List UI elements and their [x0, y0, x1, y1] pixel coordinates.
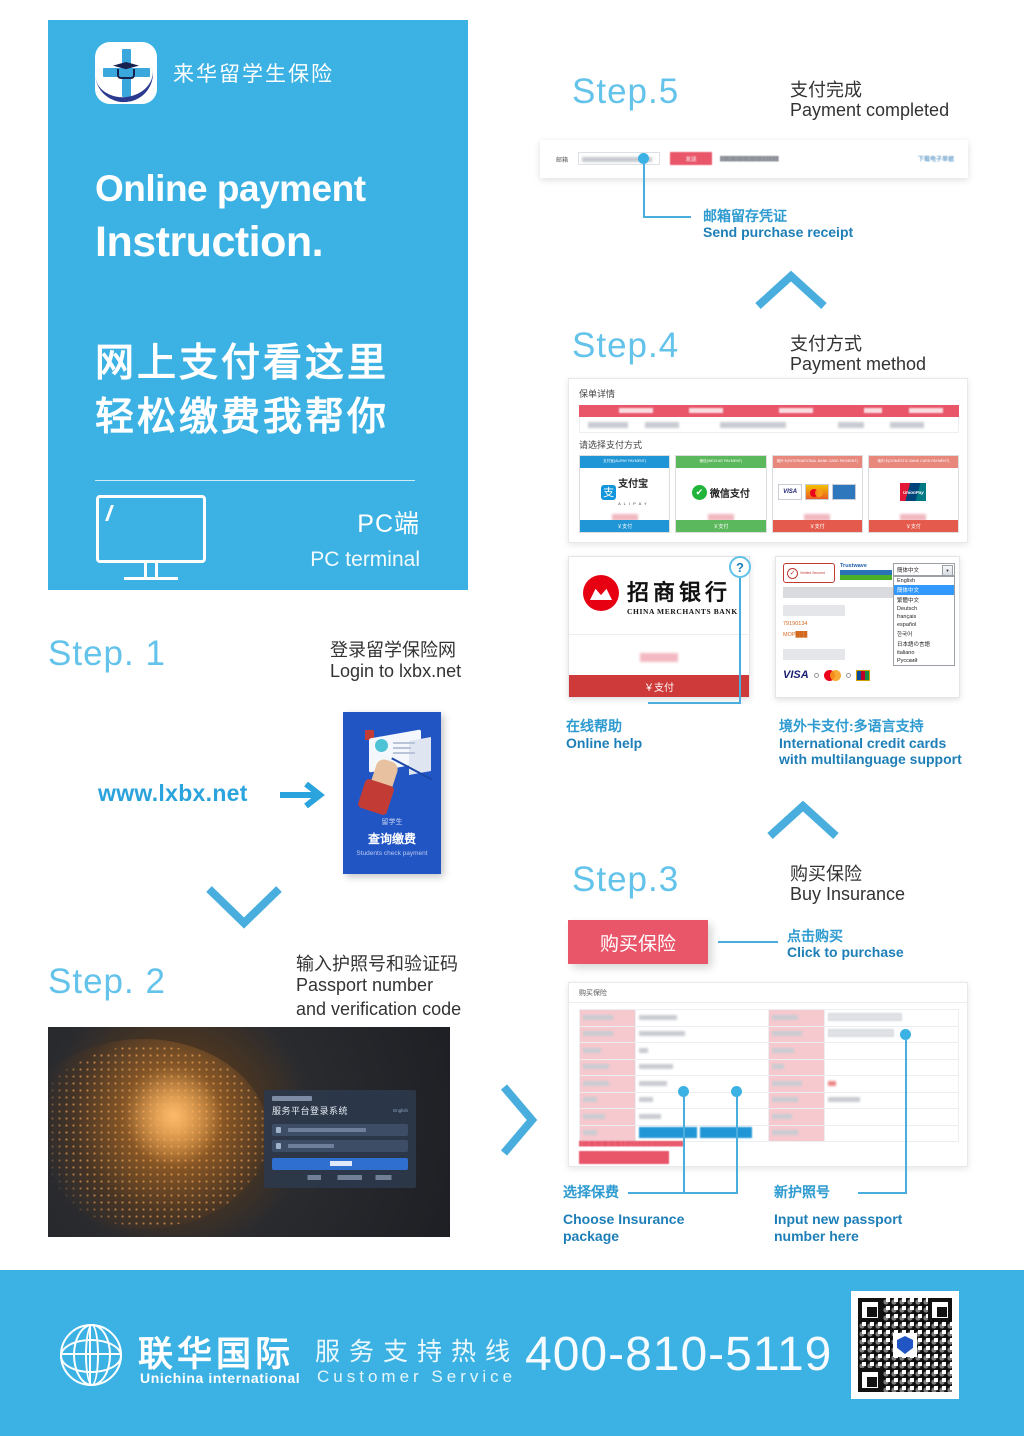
app-card-line3: Students check payment [343, 850, 441, 857]
chevron-up-icon-step4 [766, 800, 840, 840]
language-option[interactable]: 한국어 [894, 629, 954, 639]
policy-detail-title: 保单详情 [579, 387, 615, 400]
footer-service-cn: 服务支持热线 [315, 1332, 519, 1368]
table-row [580, 1059, 959, 1076]
insurance-package-select-2[interactable] [700, 1127, 752, 1138]
passport-callout-en-1: Input new passport [774, 1211, 902, 1227]
footer-phone: 400-810-5119 [525, 1327, 832, 1382]
form-submit-button[interactable] [579, 1151, 669, 1164]
choose-payment-title: 请选择支付方式 [579, 438, 642, 451]
step-1-caption-cn: 登录留学保险网 [330, 636, 456, 662]
pc-terminal-en: PC terminal [310, 548, 420, 572]
package-callout-cn: 选择保费 [563, 1182, 619, 1202]
callout-line-horizontal [643, 216, 691, 218]
card-field-3[interactable] [783, 649, 845, 660]
bank-header: 招商银行 CHINA MERCHANTS BANK [569, 557, 749, 635]
radio-mastercard[interactable] [814, 673, 819, 678]
step-2-caption-en-1: Passport number [296, 975, 433, 996]
receipt-email-bar: 邮箱 发送 ██████████████████ 下载电子单据 [540, 140, 968, 178]
callout-line-passport [905, 1040, 907, 1194]
alipay-pay-button[interactable]: ￥支付 [580, 520, 669, 532]
table-row [580, 1109, 959, 1126]
card-number-field[interactable] [783, 587, 903, 598]
policy-table-row [579, 417, 959, 433]
hero-title-line2: Instruction. [95, 218, 323, 267]
insurance-package-select-1[interactable] [639, 1127, 697, 1138]
website-url[interactable]: www.lxbx.net [98, 780, 248, 807]
footer-brand-en: Unichina international [140, 1370, 300, 1386]
buy-insurance-button[interactable]: 购买保险 [568, 920, 708, 964]
table-row [580, 1076, 959, 1093]
help-callout-line [739, 578, 741, 704]
globe-icon [60, 1324, 122, 1386]
app-card-line1: 留学生 [343, 817, 441, 827]
step-5-label: Step.5 [572, 72, 679, 112]
bank-name-cn: 招商银行 [627, 575, 731, 607]
footer-service-en: Customer Service [317, 1367, 516, 1387]
accepted-card-brands: VISA [783, 669, 870, 681]
card-field-2[interactable] [783, 605, 845, 616]
medical-cross-graduation-cap-logo-icon [95, 42, 157, 104]
order-amount-text: MOP███ [783, 632, 807, 638]
language-option[interactable]: Русский [894, 657, 954, 665]
verified-secured-badge-icon: ✓Verified Secured [783, 563, 835, 583]
visa-icon: VISA [783, 669, 809, 681]
payment-method-panel: 保单详情 请选择支付方式 支付宝(ALIPAY PAYMENT) 支 支付宝 A… [568, 378, 968, 543]
login-page-screenshot: 服务平台登录系统 English [48, 1027, 450, 1237]
language-option[interactable]: 日本語の言語 [894, 639, 954, 649]
step-2-label: Step. 2 [48, 962, 166, 1002]
bank-pay-button[interactable]: ￥支付 [569, 675, 749, 697]
payment-option-domestic-card[interactable]: 境内卡(DOMESTIC BANK CARD PAYMENT) UnionPay… [868, 455, 959, 533]
payment-option-international-card[interactable]: 境外卡(INTERNATIONAL BANK CARD PAYMENT) VIS… [772, 455, 863, 533]
step-4-caption-en: Payment method [790, 354, 926, 375]
wechat-header: 微信(WECHAT PAYMENT) [676, 456, 765, 468]
language-option[interactable]: español [894, 621, 954, 629]
callout-dot-passport [900, 1029, 911, 1040]
chevron-up-icon-step5 [754, 270, 828, 310]
step-2-caption-cn: 输入护照号和验证码 [296, 950, 458, 976]
alipay-name: 支付宝 [618, 479, 648, 490]
mastercard-icon [805, 484, 829, 500]
insurance-form-panel: 购买保险 [568, 982, 968, 1167]
intl-callout-en-2: with multilanguage support [779, 751, 962, 767]
language-option[interactable]: 繁體中文 [894, 595, 954, 605]
amex-icon [832, 484, 856, 500]
step-4-label: Step.4 [572, 326, 679, 366]
language-options-list[interactable]: English 簡体中文 繁體中文 Deutsch français españ… [893, 576, 955, 666]
desktop-monitor-icon [96, 495, 206, 585]
step-3-caption-en: Buy Insurance [790, 884, 905, 905]
pc-terminal-cn: PC端 [357, 504, 420, 540]
wechat-name: 微信支付 [710, 485, 750, 500]
help-callout-en: Online help [566, 735, 642, 751]
mastercard-icon [824, 670, 841, 681]
table-row [580, 1092, 959, 1109]
login-form: 服务平台登录系统 English [264, 1090, 416, 1188]
chevron-down-icon-step1 [205, 883, 283, 929]
table-row [580, 1125, 959, 1142]
purchase-callout-line [718, 941, 778, 943]
trustwave-badge-icon: Trustwave [840, 563, 892, 583]
cmb-logo-icon [583, 575, 619, 611]
login-footer-links[interactable] [272, 1175, 408, 1180]
visa-icon: VISA [778, 484, 802, 500]
send-receipt-button[interactable]: 发送 [670, 152, 712, 165]
callout-line-pkg-h [628, 1192, 738, 1194]
step-3-caption-cn: 购买保险 [790, 860, 862, 886]
language-toggle-english[interactable]: English [393, 1108, 408, 1113]
step-1-label: Step. 1 [48, 634, 166, 674]
student-payment-app-card[interactable]: 留学生 查询缴费 Students check payment [343, 712, 441, 874]
callout-line-vertical [643, 164, 645, 218]
payment-option-wechat[interactable]: 微信(WECHAT PAYMENT) ✔ 微信支付 ￥支付 [675, 455, 766, 533]
purchase-callout-cn: 点击购买 [787, 926, 843, 946]
callout-line-pkg1 [683, 1096, 685, 1194]
step-2-caption-en-2: and verification code [296, 999, 461, 1020]
language-option-selected[interactable]: 簡体中文 [894, 585, 954, 595]
table-row [580, 1043, 959, 1060]
alipay-header: 支付宝(ALIPAY PAYMENT) [580, 456, 669, 468]
hero-title-line1: Online payment [95, 168, 366, 210]
purchase-callout-en: Click to purchase [787, 944, 904, 960]
policy-table-header [579, 405, 959, 417]
hero-panel: 来华留学生保险 Online payment Instruction. 网上支付… [48, 20, 468, 590]
step-3-label: Step.3 [572, 860, 679, 900]
alipay-sub: A L I P A Y [618, 501, 648, 506]
language-option[interactable]: English [894, 577, 954, 585]
language-select[interactable]: 簡体中文▼ [893, 563, 955, 576]
chevron-right-icon-step2 [498, 1083, 538, 1157]
domestic-card-header: 境内卡(DOMESTIC BANK CARD PAYMENT) [869, 456, 958, 468]
language-option[interactable]: Deutsch [894, 605, 954, 613]
step-5-caption-en: Payment completed [790, 100, 949, 121]
intl-callout-en-1: International credit cards [779, 735, 946, 751]
domestic-card-pay-button[interactable]: ￥支付 [869, 520, 958, 532]
intl-card-header: 境外卡(INTERNATIONAL BANK CARD PAYMENT) [773, 456, 862, 468]
login-submit-button[interactable] [272, 1158, 408, 1170]
brand-row: 来华留学生保险 [95, 42, 334, 104]
divider [95, 480, 415, 481]
intl-card-pay-button[interactable]: ￥支付 [773, 520, 862, 532]
hero-cn-line1: 网上支付看这里 [95, 332, 389, 388]
question-mark-help-icon[interactable]: ? [729, 556, 751, 578]
order-number-text: 79190134 [783, 621, 807, 627]
language-option[interactable]: italiano [894, 649, 954, 657]
brand-name-cn: 来华留学生保险 [173, 58, 334, 88]
language-option[interactable]: français [894, 613, 954, 621]
form-header: 购买保险 [569, 983, 967, 1003]
callout-line-passport-h [858, 1192, 906, 1194]
login-title: 服务平台登录系统 [272, 1104, 348, 1117]
email-label: 邮箱 [556, 155, 568, 164]
jcb-icon [856, 670, 870, 681]
package-callout-en-1: Choose Insurance [563, 1211, 684, 1227]
step-4-caption-cn: 支付方式 [790, 330, 862, 356]
callout-line-pkg2 [736, 1096, 738, 1194]
help-callout-cn: 在线帮助 [566, 716, 622, 736]
bank-amount [569, 649, 749, 667]
app-card-line2: 查询缴费 [343, 830, 441, 847]
step-1-caption-en: Login to lxbx.net [330, 661, 461, 682]
help-callout-line-h [648, 702, 740, 704]
package-callout-en-2: package [563, 1228, 619, 1244]
step-5-caption-cn: 支付完成 [790, 76, 862, 102]
radio-jcb[interactable] [846, 673, 851, 678]
arrow-right-icon [280, 782, 326, 813]
passport-callout-cn: 新护照号 [774, 1182, 830, 1202]
payment-method-list: 支付宝(ALIPAY PAYMENT) 支 支付宝 A L I P A Y ￥支… [579, 455, 959, 533]
callout-dot-email [638, 153, 649, 164]
passport-callout-en-2: number here [774, 1228, 859, 1244]
wechat-pay-button[interactable]: ￥支付 [676, 520, 765, 532]
qr-code-icon [851, 1291, 959, 1399]
table-row [580, 1010, 959, 1027]
email-callout-cn: 邮箱留存凭证 [703, 206, 787, 226]
intl-callout-cn: 境外卡支付:多语言支持 [779, 716, 924, 736]
international-card-panel: ✓Verified Secured Trustwave 79190134 MOP… [775, 556, 960, 698]
chevron-down-icon: ▼ [942, 565, 953, 576]
email-callout-en: Send purchase receipt [703, 224, 853, 240]
hero-cn-line2: 轻松缴费我帮你 [95, 386, 389, 442]
form-disclaimer: ████████████████████████████████ [579, 1141, 683, 1146]
receipt-hint-text: ██████████████████ [720, 156, 779, 161]
passport-number-input[interactable] [272, 1124, 408, 1136]
verification-code-input[interactable] [272, 1140, 408, 1152]
payment-option-alipay[interactable]: 支付宝(ALIPAY PAYMENT) 支 支付宝 A L I P A Y ￥支… [579, 455, 670, 533]
bank-payment-card: 招商银行 CHINA MERCHANTS BANK ￥支付 [568, 556, 750, 698]
download-receipt-link[interactable]: 下载电子单据 [918, 154, 954, 163]
bank-name-en: CHINA MERCHANTS BANK [627, 607, 738, 616]
